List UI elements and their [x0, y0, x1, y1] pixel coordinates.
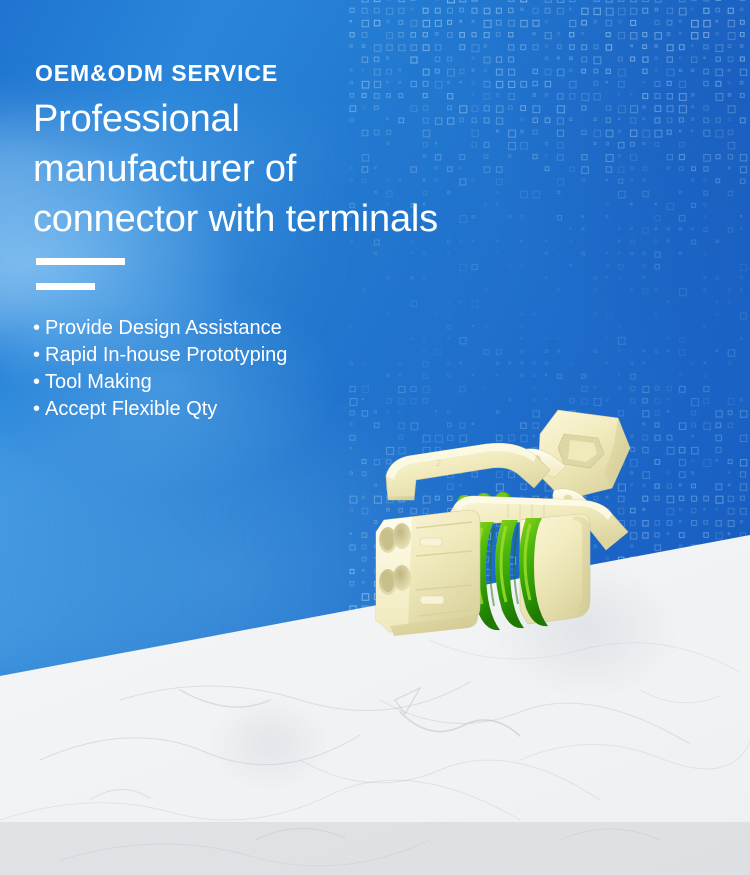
bullet-icon: •	[33, 371, 40, 393]
divider-bar-long	[36, 258, 125, 265]
headline-line-1: Professional	[33, 94, 513, 144]
list-item-label: Tool Making	[45, 371, 152, 393]
connector-lever-upper: 2	[386, 443, 550, 500]
product-image-connector: 2	[368, 404, 668, 664]
list-item: •Rapid In-house Prototyping	[33, 342, 513, 369]
list-item: •Tool Making	[33, 369, 513, 396]
bullet-icon: •	[33, 317, 40, 339]
list-item-label: Provide Design Assistance	[45, 317, 282, 339]
svg-text:2: 2	[436, 458, 441, 468]
list-item-label: Rapid In-house Prototyping	[45, 344, 287, 366]
product-banner: OEM&ODM SERVICE Professional manufacture…	[0, 0, 750, 875]
connector-front-housing	[376, 510, 480, 636]
marble-bottom-shade	[0, 822, 750, 875]
page-title: Professional manufacturer of connector w…	[33, 94, 513, 244]
eyebrow-label: OEM&ODM SERVICE	[35, 58, 513, 88]
list-item: •Provide Design Assistance	[33, 315, 513, 342]
banner-text-content: OEM&ODM SERVICE Professional manufacture…	[33, 58, 513, 423]
divider-bar-short	[36, 283, 95, 290]
bullet-icon: •	[33, 344, 40, 366]
headline-line-3: connector with terminals	[33, 194, 513, 244]
list-item-label: Accept Flexible Qty	[45, 398, 217, 420]
headline-line-2: manufacturer of	[33, 144, 513, 194]
divider-group	[33, 258, 513, 290]
bullet-icon: •	[33, 398, 40, 420]
